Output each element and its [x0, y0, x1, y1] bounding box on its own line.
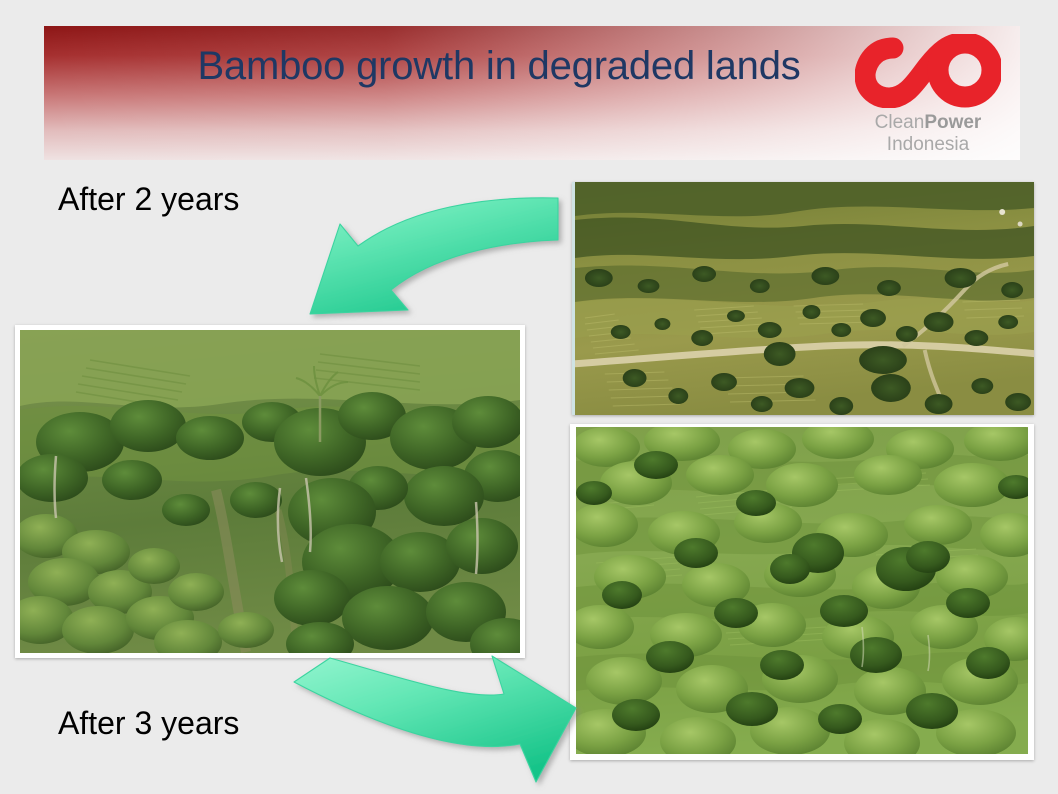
curved-arrow-down-right [278, 648, 588, 794]
slide-canvas: Bamboo growth in degraded lands CleanPow… [0, 0, 1058, 794]
caption-after-3-years: After 3 years [58, 705, 239, 742]
title-banner: Bamboo growth in degraded lands CleanPow… [44, 26, 1020, 160]
aerial-photo-bamboo-after-3-years [570, 424, 1034, 760]
cleanpower-indonesia-logo: CleanPower Indonesia [848, 32, 1008, 160]
logo-subtitle: Indonesia [848, 134, 1008, 156]
aerial-photo-degraded-land [572, 182, 1034, 415]
degraded-land-image [575, 182, 1034, 415]
bamboo-after-3-years-image [576, 427, 1028, 754]
infinity-logo-icon [855, 34, 1001, 108]
logo-wordmark-power: Power [924, 112, 981, 133]
logo-wordmark-clean: Clean [875, 112, 925, 133]
bamboo-after-2-years-image [20, 330, 520, 653]
caption-after-2-years: After 2 years [58, 181, 239, 218]
page-title: Bamboo growth in degraded lands [104, 40, 894, 93]
curved-arrow-down-left [288, 192, 588, 342]
logo-wordmark: CleanPower [848, 112, 1008, 134]
aerial-photo-bamboo-after-2-years [15, 325, 525, 658]
